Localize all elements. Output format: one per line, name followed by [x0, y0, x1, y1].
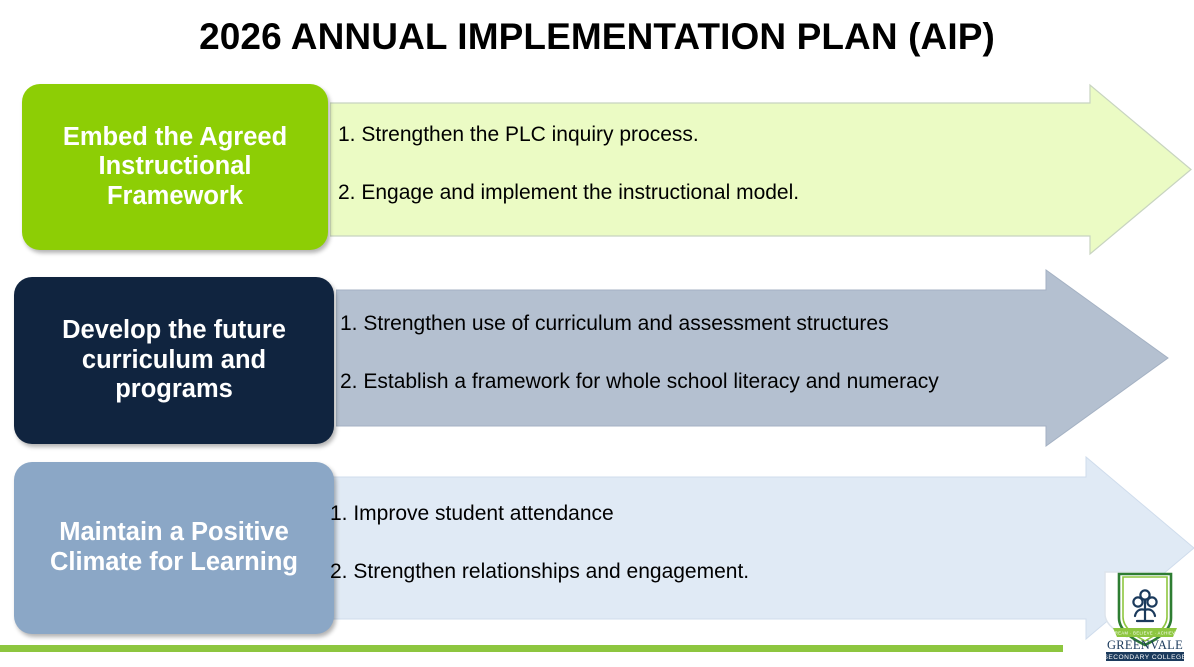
school-logo: DREAM · BELIEVE · ACHIEVE GREENVALE SECO… [1099, 568, 1191, 661]
goal-box-2[interactable]: Develop the future curriculum and progra… [14, 277, 334, 444]
goal-bullets-1: 1. Strengthen the PLC inquiry process. 2… [338, 122, 799, 205]
logo-secondary-text: SECONDARY COLLEGE [1103, 654, 1186, 661]
goal-bullets-2: 1. Strengthen use of curriculum and asse… [340, 311, 939, 394]
bullet-item: 1. Strengthen the PLC inquiry process. [338, 122, 799, 147]
logo-primary-text: GREENVALE [1107, 638, 1183, 652]
logo-motto-text: DREAM · BELIEVE · ACHIEVE [1112, 630, 1179, 635]
bullet-item: 2. Strengthen relationships and engageme… [330, 559, 749, 584]
bullet-item: 1. Strengthen use of curriculum and asse… [340, 311, 939, 336]
school-logo-svg: DREAM · BELIEVE · ACHIEVE GREENVALE SECO… [1099, 568, 1191, 661]
bullet-item: 2. Engage and implement the instructiona… [338, 180, 799, 205]
page-title: 2026 ANNUAL IMPLEMENTATION PLAN (AIP) [0, 16, 1194, 58]
bullet-item: 2. Establish a framework for whole schoo… [340, 369, 939, 394]
goal-box-1[interactable]: Embed the Agreed Instructional Framework [22, 84, 328, 250]
goal-box-3[interactable]: Maintain a Positive Climate for Learning [14, 462, 334, 634]
footer-divider [0, 645, 1063, 652]
goal-bullets-3: 1. Improve student attendance 2. Strengt… [330, 501, 749, 584]
slide-canvas: 2026 ANNUAL IMPLEMENTATION PLAN (AIP) Em… [0, 0, 1194, 667]
bullet-item: 1. Improve student attendance [330, 501, 749, 526]
